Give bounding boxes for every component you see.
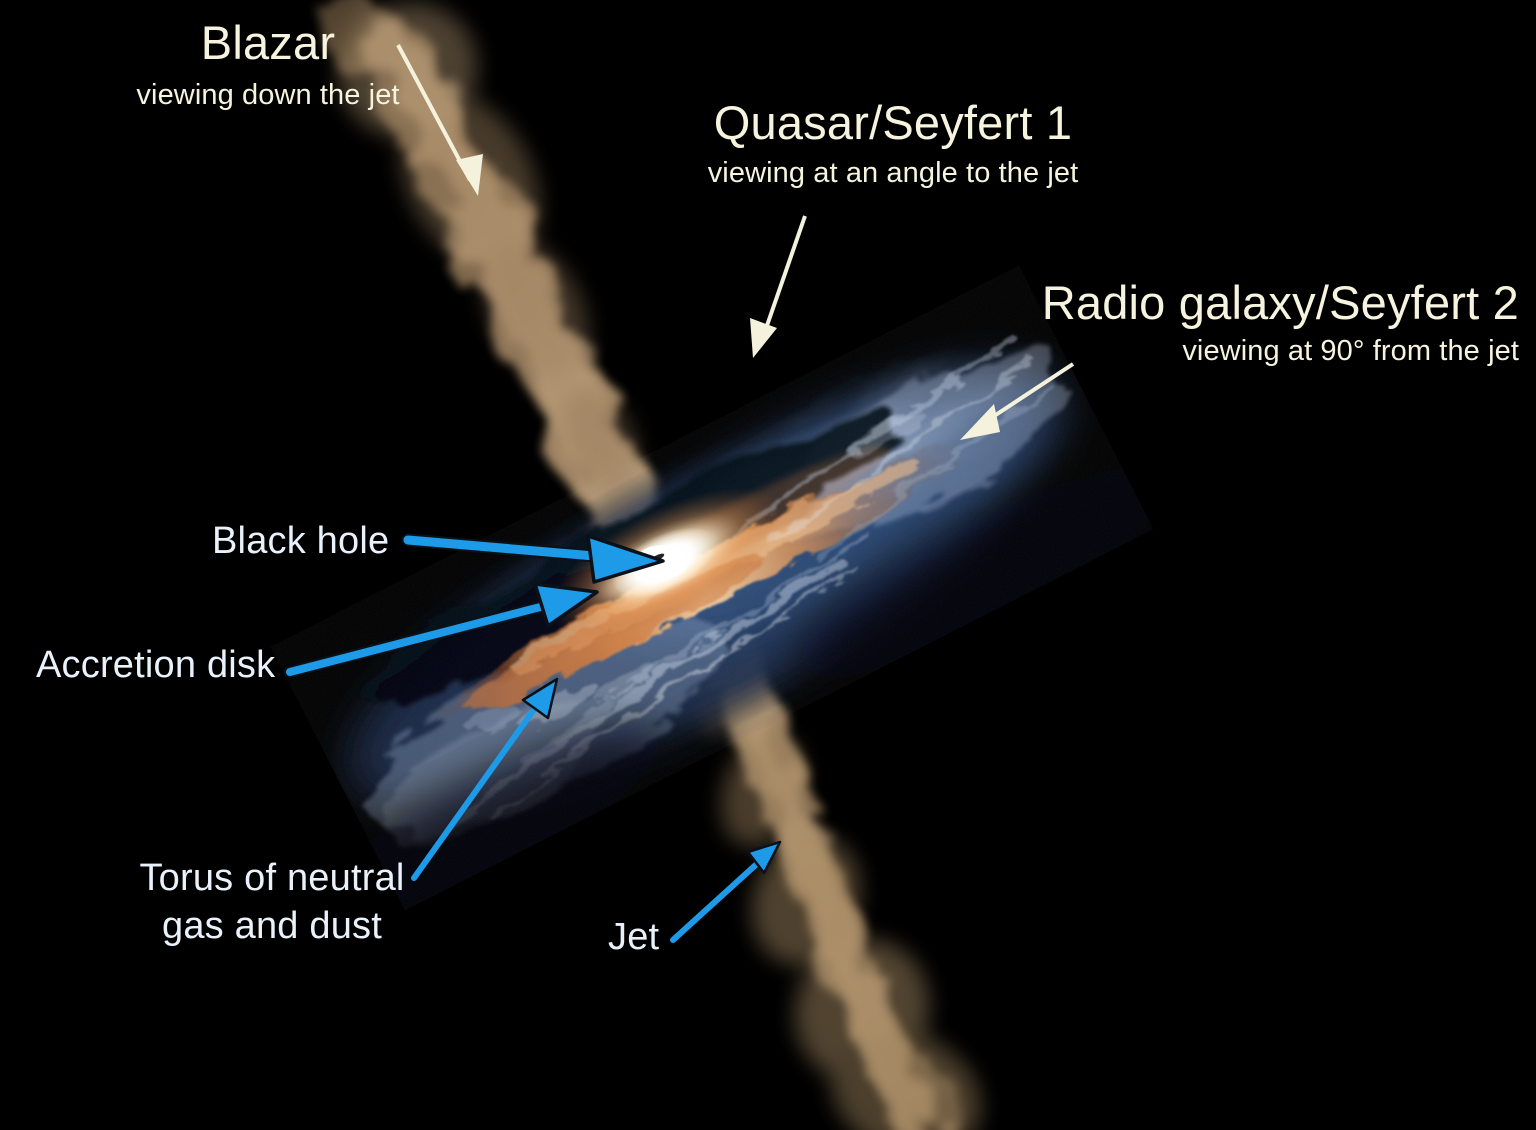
arrow-black-hole (408, 536, 663, 582)
label-torus-line2: gas and dust (92, 906, 452, 947)
label-blazar-subtitle: viewing down the jet (60, 80, 476, 111)
label-radio-galaxy-seyfert-2-title: Radio galaxy/Seyfert 2 (919, 278, 1519, 329)
label-quasar-seyfert-1-title: Quasar/Seyfert 1 (643, 98, 1143, 149)
arrow-radio-galaxy-seyfert-2 (960, 364, 1073, 440)
agn-unified-model-figure: Blazar viewing down the jet Quasar/Seyfe… (0, 0, 1536, 1130)
label-torus-line1: Torus of neutral (92, 858, 452, 899)
arrow-torus (414, 679, 557, 878)
label-quasar-seyfert-1-subtitle: viewing at an angle to the jet (643, 158, 1143, 189)
label-radio-galaxy-seyfert-2-subtitle: viewing at 90° from the jet (919, 336, 1519, 367)
arrow-accretion-disk (290, 584, 597, 672)
label-accretion-disk: Accretion disk (36, 645, 275, 686)
label-blazar-title: Blazar (60, 18, 476, 69)
label-black-hole: Black hole (212, 521, 389, 562)
arrow-jet (673, 842, 780, 940)
label-jet: Jet (608, 917, 659, 958)
arrow-quasar-seyfert-1 (750, 216, 805, 358)
